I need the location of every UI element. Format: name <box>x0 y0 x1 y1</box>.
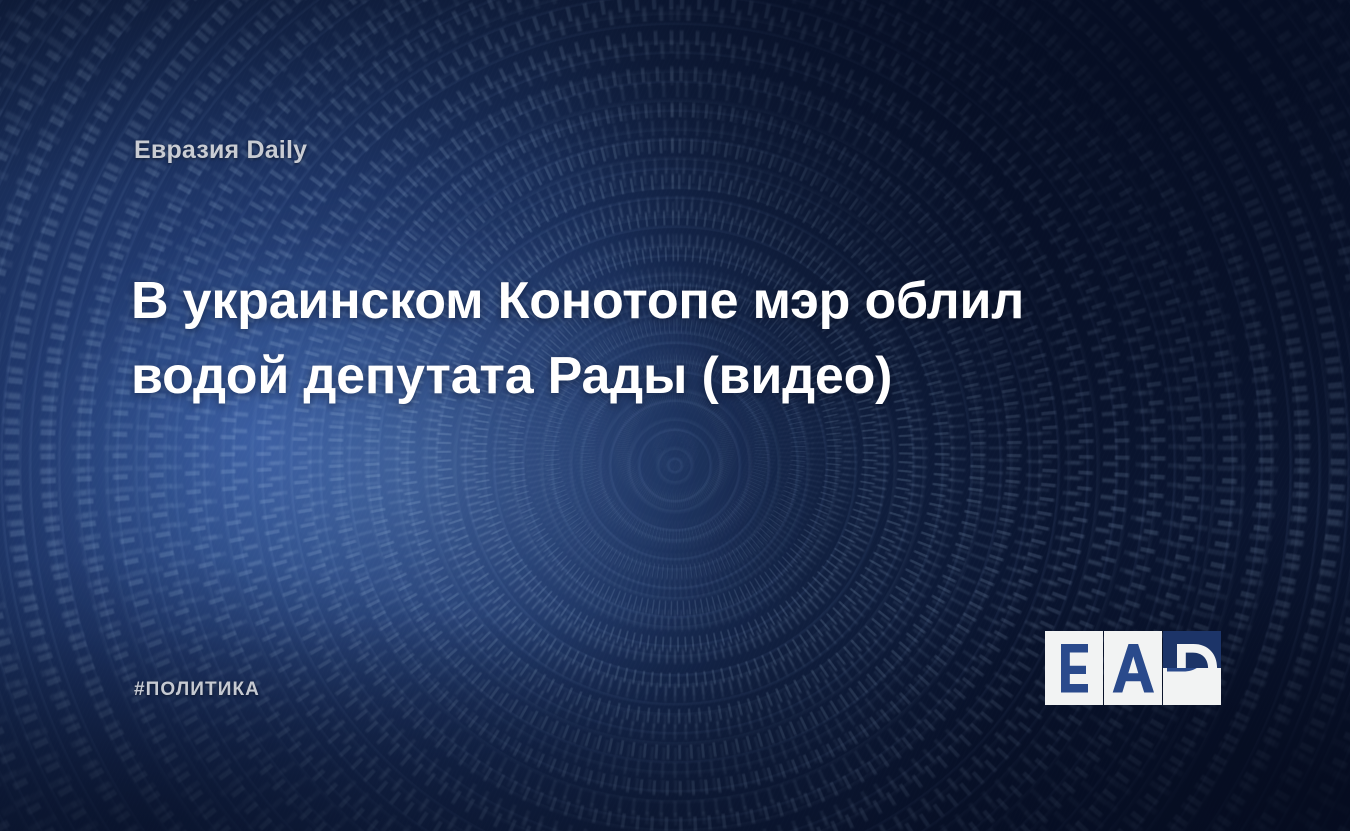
news-share-card: Евразия Daily В украинском Конотопе мэр … <box>0 0 1350 831</box>
logo-tile-e <box>1045 631 1103 705</box>
logo-tile-d <box>1163 631 1221 705</box>
rubric-tag: #ПОЛИТИКА <box>134 679 260 701</box>
logo-tile-a <box>1104 631 1162 705</box>
eadaily-logo <box>1045 631 1221 705</box>
logo-tile-d-top-half <box>1163 631 1221 668</box>
headline: В украинском Конотопе мэр облил водой де… <box>131 264 1111 414</box>
brand-name: Евразия Daily <box>134 136 307 165</box>
logo-tile-d-bottom-half <box>1163 668 1221 705</box>
card-content: Евразия Daily В украинском Конотопе мэр … <box>0 0 1350 831</box>
